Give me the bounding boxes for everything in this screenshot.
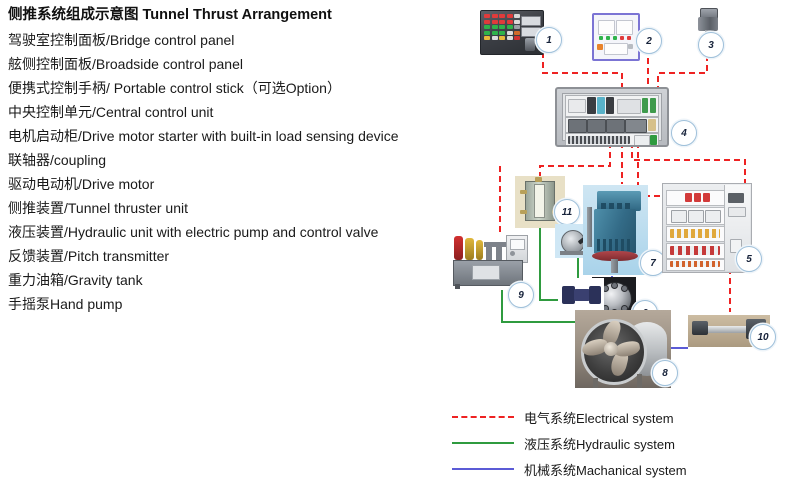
callout-5[interactable]: 5 bbox=[736, 246, 762, 272]
control-lever[interactable] bbox=[525, 38, 535, 51]
keypad bbox=[484, 14, 520, 40]
accumulator-red bbox=[454, 236, 463, 260]
control-box[interactable] bbox=[506, 235, 528, 263]
accumulator-yellow bbox=[465, 238, 474, 260]
filler-cap bbox=[535, 177, 542, 182]
feedback-rod bbox=[702, 326, 752, 333]
list-item: 便携式控制手柄/ Portable control stick（可选Option… bbox=[8, 76, 458, 100]
legend-row-electrical: 电气系统Electrical system bbox=[452, 404, 782, 430]
terminal-conduit bbox=[587, 207, 592, 247]
drive-motor[interactable] bbox=[583, 185, 648, 275]
tank-nameplate bbox=[472, 265, 500, 280]
callout-8[interactable]: 8 bbox=[652, 360, 678, 386]
list-item: 反馈装置/Pitch transmitter bbox=[8, 244, 458, 268]
legend-row-mechanical: 机械系统Machanical system bbox=[452, 456, 782, 482]
port-lower bbox=[520, 210, 527, 214]
rail-3 bbox=[666, 226, 726, 242]
sight-glass bbox=[534, 184, 545, 218]
callout-11[interactable]: 11 bbox=[554, 199, 580, 225]
list-item: 液压装置/Hydraulic unit with electric pump a… bbox=[8, 220, 458, 244]
stick-grip bbox=[698, 17, 718, 31]
list-item: 驾驶室控制面板/Bridge control panel bbox=[8, 28, 458, 52]
list-item: 中央控制单元/Central control unit bbox=[8, 100, 458, 124]
list-item: 手摇泵Hand pump bbox=[8, 292, 458, 316]
legend-row-hydraulic: 液压系统Hydraulic system bbox=[452, 430, 782, 456]
rail-1 bbox=[666, 190, 726, 206]
legend: 电气系统Electrical system 液压系统Hydraulic syst… bbox=[452, 404, 782, 482]
callout-10[interactable]: 10 bbox=[750, 324, 776, 350]
callout-2[interactable]: 2 bbox=[636, 28, 662, 54]
shelf-upper bbox=[565, 95, 659, 117]
system-diagram: 1 2 3 bbox=[440, 0, 788, 400]
bridge-control-panel[interactable] bbox=[480, 10, 544, 55]
list-item: 驱动电动机/Drive motor bbox=[8, 172, 458, 196]
electrical-line-swatch-icon bbox=[452, 416, 514, 418]
legend-label: 液压系统Hydraulic system bbox=[524, 434, 675, 453]
hydraulic-line-swatch-icon bbox=[452, 442, 514, 444]
central-control-unit[interactable] bbox=[555, 87, 669, 147]
callout-4[interactable]: 4 bbox=[671, 120, 697, 146]
cabinet-interior bbox=[562, 93, 662, 141]
screen-left bbox=[598, 20, 615, 35]
screen-right bbox=[616, 20, 633, 35]
rail-5 bbox=[666, 259, 726, 271]
port-upper bbox=[520, 190, 527, 194]
mechanical-line-swatch-icon bbox=[452, 468, 514, 470]
motor-shaft bbox=[611, 259, 618, 273]
callout-9[interactable]: 9 bbox=[508, 282, 534, 308]
accumulator-yellow-2 bbox=[476, 240, 483, 260]
legend-label: 机械系统Machanical system bbox=[524, 460, 687, 479]
list-item: 电机启动柜/Drive motor starter with built-in … bbox=[8, 124, 458, 148]
panel-display-upper bbox=[521, 16, 541, 26]
keypad-area[interactable] bbox=[604, 43, 628, 55]
callout-3[interactable]: 3 bbox=[698, 32, 724, 58]
broadside-control-panel[interactable] bbox=[592, 13, 640, 61]
list-item: 重力油箱/Gravity tank bbox=[8, 268, 458, 292]
screenshot-root: 侧推系统组成示意图 Tunnel Thrust Arrangement 驾驶室控… bbox=[0, 0, 788, 490]
component-list: 侧推系统组成示意图 Tunnel Thrust Arrangement 驾驶室控… bbox=[8, 4, 458, 316]
list-item: 侧推装置/Tunnel thruster unit bbox=[8, 196, 458, 220]
shelf-lower bbox=[565, 133, 659, 147]
pump-base bbox=[560, 251, 584, 255]
rail-2 bbox=[666, 207, 726, 225]
callout-1[interactable]: 1 bbox=[536, 27, 562, 53]
rod-end-left bbox=[692, 321, 708, 335]
propeller-hub bbox=[604, 342, 618, 356]
shelf-middle bbox=[565, 117, 659, 133]
list-item: 联轴器/coupling bbox=[8, 148, 458, 172]
rail-4 bbox=[666, 243, 726, 259]
legend-label: 电气系统Electrical system bbox=[524, 408, 674, 427]
intermediate-shaft bbox=[558, 278, 604, 312]
page-title: 侧推系统组成示意图 Tunnel Thrust Arrangement bbox=[8, 4, 458, 26]
list-item: 舷侧控制面板/Broadside control panel bbox=[8, 52, 458, 76]
